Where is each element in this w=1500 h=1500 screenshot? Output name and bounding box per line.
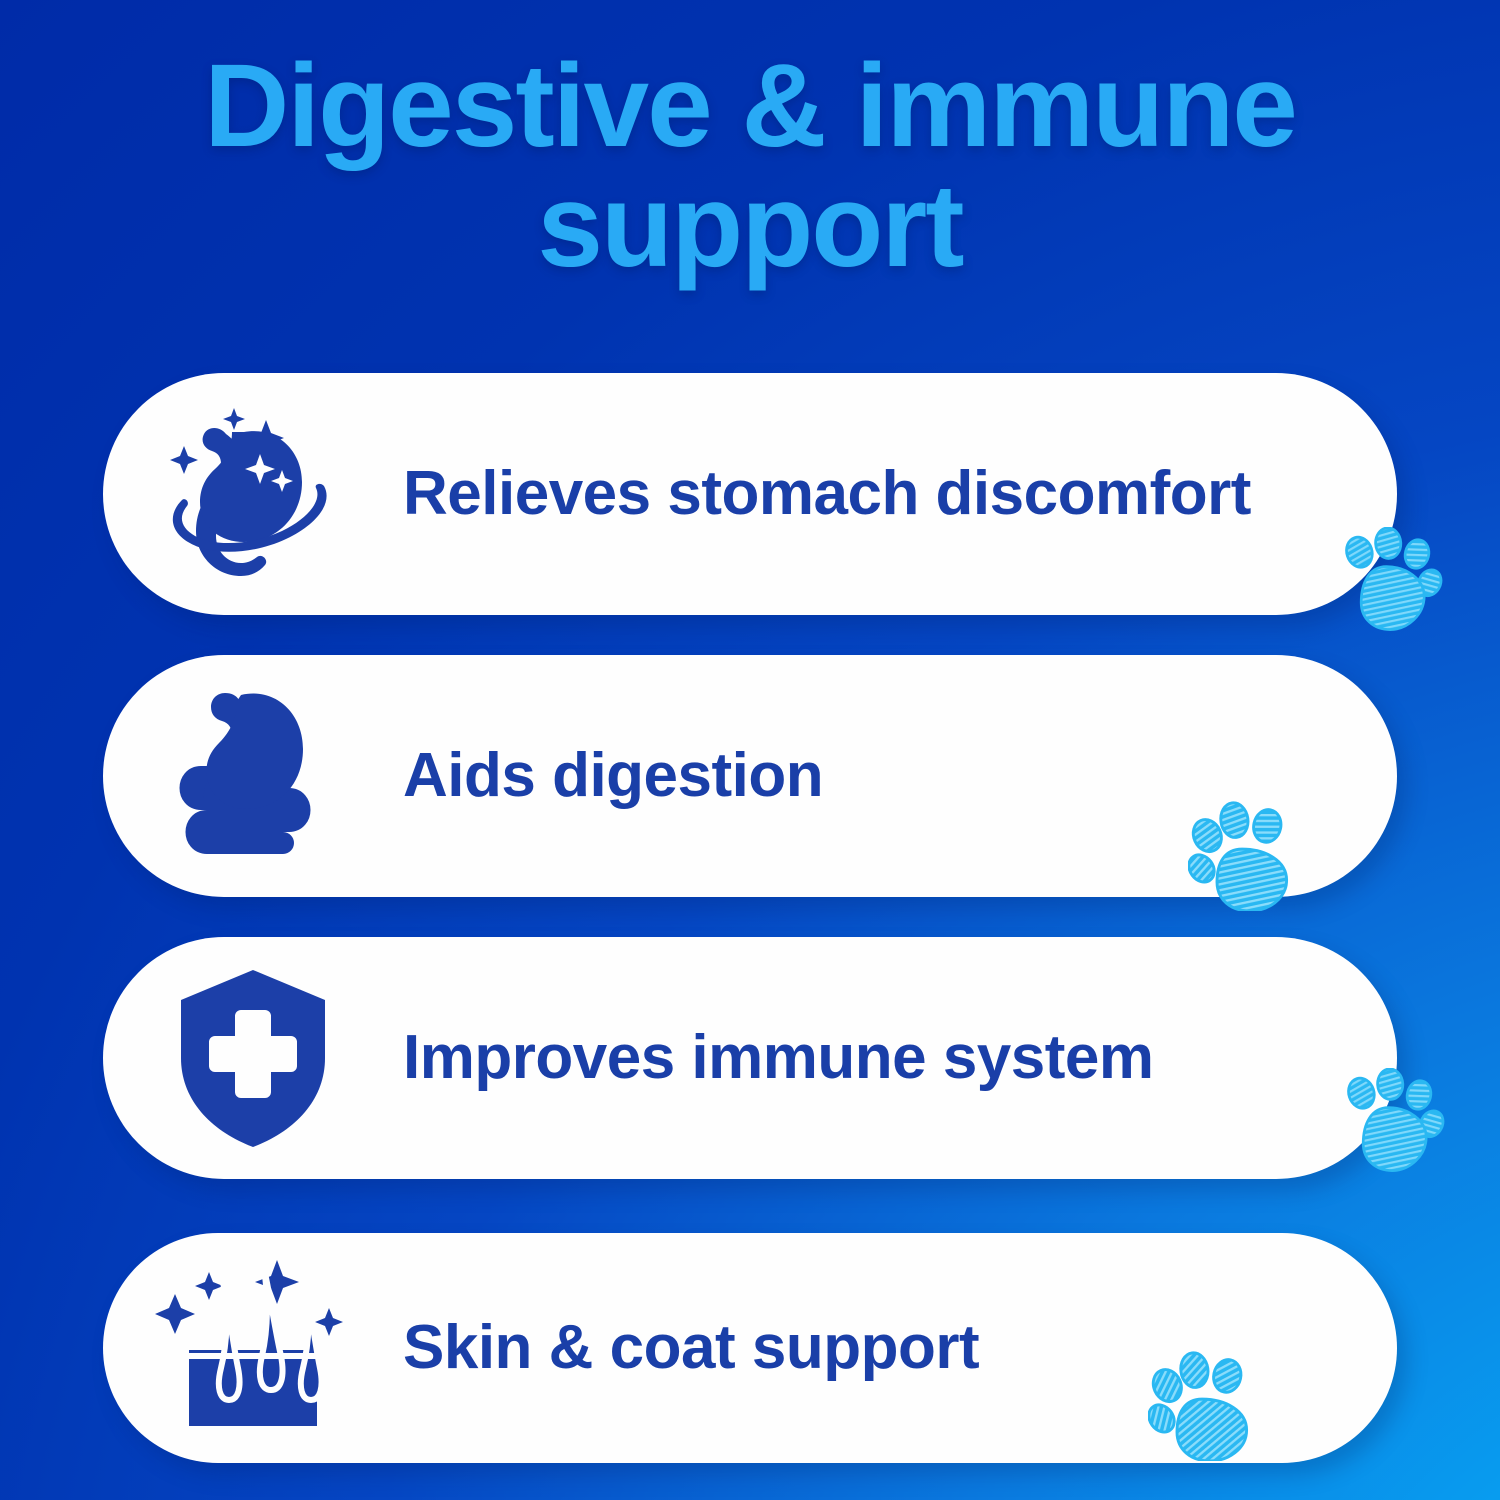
benefit-card-relieves-stomach-discomfort[interactable]: Relieves stomach discomfort — [103, 373, 1397, 615]
benefit-label: Improves immune system — [403, 1022, 1397, 1095]
skin-hair-follicle-icon — [103, 1233, 403, 1463]
page-title-line-1: Digestive & immune — [204, 40, 1296, 172]
stomach-orbit-sparkle-icon — [103, 373, 403, 615]
benefit-card-aids-digestion[interactable]: Aids digestion — [103, 655, 1397, 897]
page-title: Digestive & immune support — [0, 46, 1500, 287]
benefit-label: Relieves stomach discomfort — [403, 458, 1397, 531]
benefit-label: Skin & coat support — [403, 1312, 1397, 1385]
benefit-card-improves-immune-system[interactable]: Improves immune system — [103, 937, 1397, 1179]
benefit-card-skin-and-coat-support[interactable]: Skin & coat support — [103, 1233, 1397, 1463]
stomach-intestine-icon — [103, 655, 403, 897]
page-title-line-2: support — [70, 166, 1430, 286]
benefit-label: Aids digestion — [403, 740, 1397, 813]
promo-graphic: Digestive & immune support — [0, 0, 1500, 1500]
shield-cross-icon — [103, 937, 403, 1179]
